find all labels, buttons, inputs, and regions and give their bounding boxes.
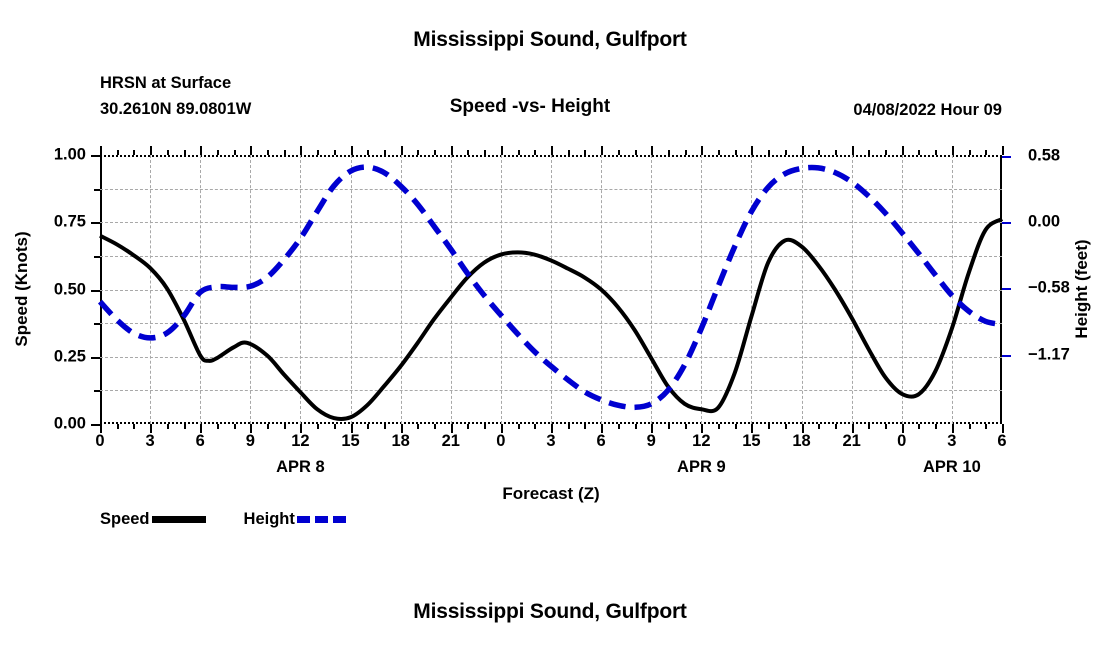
y-axis-title-right: Height (feet): [1072, 239, 1092, 338]
x-tick-minor: [668, 424, 670, 429]
x-tick-minor: [367, 424, 369, 429]
page-title-bottom: Mississippi Sound, Gulfport: [0, 600, 1100, 624]
y-tick-right: [1002, 355, 1011, 357]
x-tick-minor: [234, 424, 236, 429]
chart-legend: Speed Height: [100, 508, 351, 530]
x-tick-label: 9: [647, 432, 656, 451]
x-tick-minor: [317, 424, 319, 429]
x-tick-minor: [618, 424, 620, 429]
x-tick-minor: [167, 424, 169, 429]
y-tick-label-right: −1.17: [1028, 345, 1070, 364]
x-tick-top-major: [802, 146, 804, 155]
y-tick-right: [1002, 222, 1011, 224]
x-tick-top-major: [551, 146, 553, 155]
x-tick-label: 3: [546, 432, 555, 451]
x-tick-label: 15: [341, 432, 359, 451]
x-tick-minor: [568, 424, 570, 429]
x-tick-label: 0: [496, 432, 505, 451]
x-axis-day-label: APR 10: [923, 458, 981, 477]
x-tick-label: 21: [842, 432, 860, 451]
x-tick-minor: [334, 424, 336, 429]
x-tick-label: 12: [692, 432, 710, 451]
x-tick-top-major: [150, 146, 152, 155]
x-tick-label: 0: [95, 432, 104, 451]
x-tick-minor: [518, 424, 520, 429]
x-tick-minor: [484, 424, 486, 429]
y-tick-left: [91, 155, 100, 157]
x-tick-label: 6: [196, 432, 205, 451]
x-tick-top-major: [1002, 146, 1004, 155]
y-tick-label-left: 0.75: [26, 213, 86, 232]
x-tick-top-major: [451, 146, 453, 155]
chart-page: Mississippi Sound, Gulfport HRSN at Surf…: [0, 0, 1100, 650]
x-tick-label: 0: [897, 432, 906, 451]
y-tick-left: [91, 357, 100, 359]
y-tick-label-left: 0.50: [26, 280, 86, 299]
x-tick-label: 15: [742, 432, 760, 451]
x-tick-top-major: [651, 146, 653, 155]
y-tick-label-left: 0.25: [26, 347, 86, 366]
x-tick-label: 3: [146, 432, 155, 451]
legend-label-height: Height: [244, 510, 295, 529]
x-tick-label: 6: [597, 432, 606, 451]
page-title-top: Mississippi Sound, Gulfport: [0, 28, 1100, 52]
y-tick-label-right: −0.58: [1028, 278, 1070, 297]
y-tick-right: [1002, 288, 1011, 290]
x-tick-minor: [785, 424, 787, 429]
x-tick-label: 6: [997, 432, 1006, 451]
x-tick-label: 18: [792, 432, 810, 451]
x-tick-minor: [735, 424, 737, 429]
y-tick-right: [1002, 156, 1011, 158]
x-tick-top-major: [300, 146, 302, 155]
x-tick-top-major: [601, 146, 603, 155]
legend-item-height: Height: [244, 510, 351, 529]
x-axis-title: Forecast (Z): [502, 484, 599, 504]
x-tick-label: 18: [391, 432, 409, 451]
x-tick-label: 3: [947, 432, 956, 451]
x-tick-label: 9: [246, 432, 255, 451]
x-tick-minor: [133, 424, 135, 429]
x-tick-minor: [584, 424, 586, 429]
x-tick-top-major: [250, 146, 252, 155]
x-tick-minor: [417, 424, 419, 429]
series-line-speed: [100, 219, 1002, 419]
x-tick-top-major: [852, 146, 854, 155]
x-tick-label: 12: [291, 432, 309, 451]
x-tick-minor: [534, 424, 536, 429]
y-tick-label-right: 0.00: [1028, 212, 1060, 231]
legend-label-speed: Speed: [100, 510, 150, 529]
x-tick-minor: [885, 424, 887, 429]
x-tick-top-major: [401, 146, 403, 155]
y-tick-label-left: 0.00: [26, 415, 86, 434]
x-tick-minor: [985, 424, 987, 429]
x-tick-minor: [217, 424, 219, 429]
x-tick-minor: [267, 424, 269, 429]
series-line-height: [100, 167, 1002, 407]
x-tick-minor: [117, 424, 119, 429]
y-tick-label-right: 0.58: [1028, 146, 1060, 165]
plot-area: 0.000.250.500.751.000.580.00−0.58−1.1703…: [100, 155, 1002, 424]
x-tick-label: 21: [442, 432, 460, 451]
x-tick-minor: [768, 424, 770, 429]
x-tick-minor: [935, 424, 937, 429]
x-tick-top-major: [751, 146, 753, 155]
x-tick-minor: [685, 424, 687, 429]
x-tick-top-major: [200, 146, 202, 155]
x-tick-minor: [184, 424, 186, 429]
x-tick-minor: [384, 424, 386, 429]
x-axis-day-label: APR 9: [677, 458, 726, 477]
y-tick-left: [91, 424, 100, 426]
x-tick-minor: [818, 424, 820, 429]
x-tick-minor: [969, 424, 971, 429]
x-tick-top-major: [952, 146, 954, 155]
x-tick-minor: [918, 424, 920, 429]
station-description: HRSN at Surface: [100, 74, 231, 93]
x-tick-minor: [868, 424, 870, 429]
x-tick-minor: [635, 424, 637, 429]
station-coordinates: 30.2610N 89.0801W: [100, 100, 251, 119]
x-tick-minor: [467, 424, 469, 429]
x-tick-top-major: [100, 146, 102, 155]
legend-swatch-height-icon: [297, 516, 351, 523]
y-tick-left: [91, 222, 100, 224]
x-tick-top-major: [351, 146, 353, 155]
x-tick-top-major: [701, 146, 703, 155]
x-tick-minor: [284, 424, 286, 429]
x-tick-minor: [434, 424, 436, 429]
y-tick-left: [91, 290, 100, 292]
chart-subtitle: Speed -vs- Height: [380, 96, 680, 118]
x-axis-day-label: APR 8: [276, 458, 325, 477]
legend-item-speed: Speed: [100, 510, 206, 529]
forecast-timestamp: 04/08/2022 Hour 09: [700, 101, 1002, 120]
y-tick-label-left: 1.00: [26, 146, 86, 165]
x-tick-minor: [718, 424, 720, 429]
x-tick-top-major: [501, 146, 503, 155]
y-axis-title-left: Speed (Knots): [12, 231, 32, 346]
series-layer: [100, 155, 1002, 424]
x-tick-top-major: [902, 146, 904, 155]
legend-swatch-speed-icon: [152, 516, 206, 523]
x-tick-minor: [835, 424, 837, 429]
